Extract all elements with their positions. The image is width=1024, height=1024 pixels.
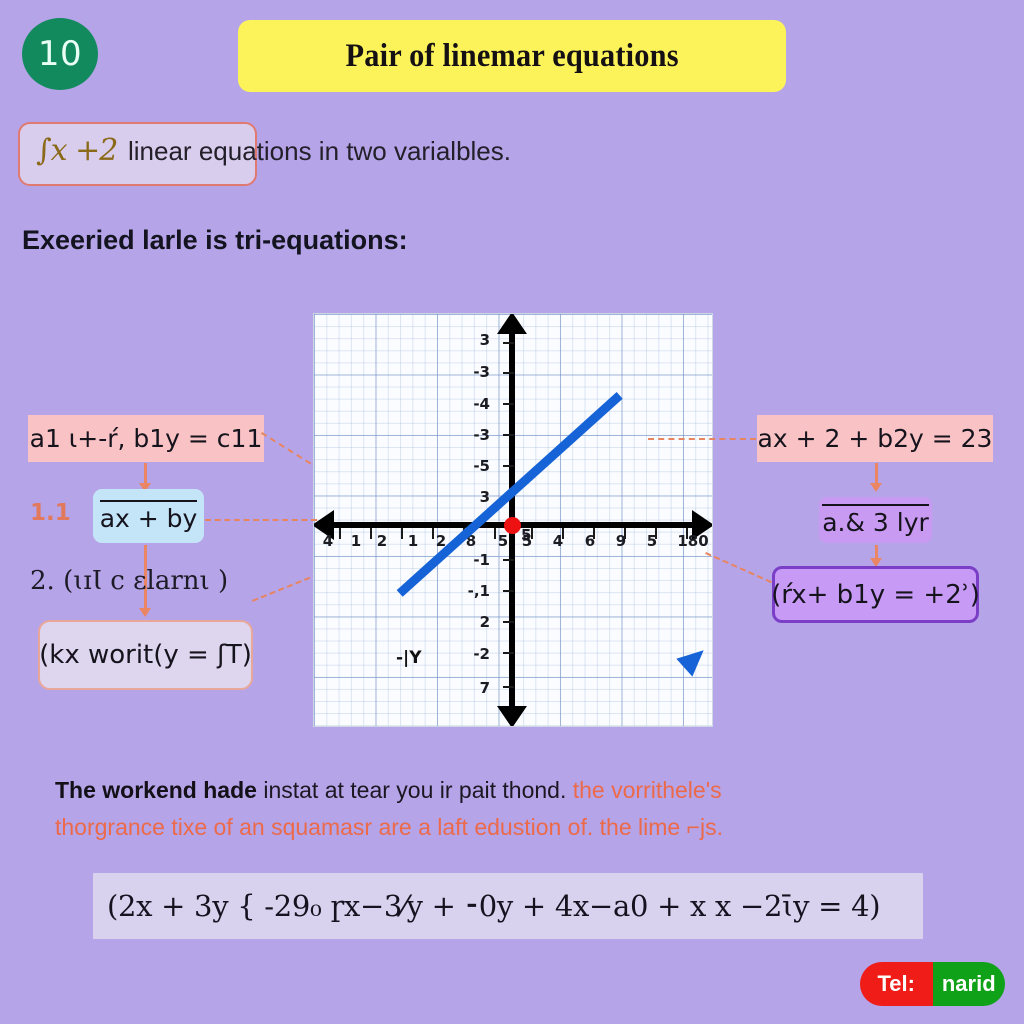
paragraph-bold-lead: The workend hade [55, 777, 257, 803]
paragraph-normal-text: instat at tear you ir pait thond. [257, 777, 573, 803]
y-tick [503, 434, 514, 436]
y-tick-label: -,1 [468, 582, 490, 600]
y-tick-label: 7 [480, 679, 490, 697]
x-tick [432, 528, 434, 539]
x-tick-label: 4 [553, 532, 563, 550]
connector-left-2-arrow-icon [139, 608, 151, 617]
y-tick [503, 590, 514, 592]
y-tick-label: -3 [473, 426, 490, 444]
x-tick-label: 5 [498, 532, 508, 550]
callout-right-equation-1: ax + 2 + b2y = 23 [757, 415, 993, 462]
footer-badge[interactable]: Tel: narid [860, 962, 1005, 1006]
y-tick-label: -3 [473, 363, 490, 381]
y-tick [503, 652, 514, 654]
x-tick [494, 528, 496, 539]
y-origin-label: 5 [521, 526, 531, 544]
callout-right-expression: a.& 3 lyr [819, 497, 932, 543]
dashed-connector-bottomleft [252, 577, 310, 602]
origin-point-marker [504, 517, 521, 534]
x-tick [401, 528, 403, 539]
title-box: Pair of linemar equations [238, 20, 786, 92]
connector-right-1-arrow-icon [870, 483, 882, 492]
step-number-2-text: 2. (ɩɪƖ c ɛlarnι ) [30, 566, 228, 596]
y-axis-up-arrow-icon [497, 313, 527, 334]
body-paragraph: The workend hade instat at tear you ir p… [55, 772, 985, 846]
y-tick [503, 686, 514, 688]
x-tick-label: 6 [585, 532, 595, 550]
dashed-connector-midleft [205, 519, 317, 521]
dashed-connector-topleft [261, 432, 311, 464]
x-tick-label: 5 [647, 532, 657, 550]
slide-root: 10 Pair of linemar equations ∫x +2 linea… [0, 0, 1024, 1024]
y-tick-label: 3 [480, 488, 490, 506]
x-tick-label: 2 [377, 532, 387, 550]
slide-number-badge: 10 [22, 18, 98, 90]
x-tick-label: 180 [677, 532, 708, 550]
x-tick-label: 1 [408, 532, 418, 550]
callout-right-solution: (ŕx+ b1y = +2ʾ) [772, 566, 979, 623]
footer-badge-right-label: narid [933, 962, 1006, 1006]
coordinate-graph: 4 1 2 1 2 8 5 5 4 6 9 5 180 3 -3 -4 -3 -… [313, 313, 713, 727]
callout-left-equation-1: a1 ɩ+-ŕ, b1y = c11 [28, 415, 264, 462]
callout-right-expression-text: a.& 3 lyr [822, 504, 929, 537]
dashed-connector-topright [648, 438, 756, 440]
x-tick-label: 1 [351, 532, 361, 550]
line-annotation-label: -|Y [396, 648, 422, 668]
footer-badge-left-label: Tel: [860, 962, 933, 1006]
y-tick [503, 372, 514, 374]
y-tick [503, 621, 514, 623]
x-tick [339, 528, 341, 539]
y-tick-label: 3 [480, 331, 490, 349]
paragraph-orange-text-2: thorgrance tixe of an squamasr are a laf… [55, 814, 723, 840]
x-tick-label: 4 [323, 532, 333, 550]
y-tick-label: 2 [480, 613, 490, 631]
paragraph-orange-text-1: the vorrithele's [573, 777, 722, 803]
page-title: Pair of linemar equations [345, 38, 678, 75]
y-tick-label: -5 [473, 457, 490, 475]
section-heading: Exeeried larle is tri-equations: [22, 225, 408, 256]
callout-left-solution: (kx worit(y = ʃT) [38, 620, 253, 690]
y-tick [503, 465, 514, 467]
y-tick-label: -4 [473, 395, 490, 413]
y-axis-down-arrow-icon [497, 706, 527, 727]
equation-strip-text: (2x + 3y { -29₀ ɼx−3⁄y + ⁃0y + 4x−a0 + x… [107, 889, 880, 923]
callout-left-expression-text: ax + by [100, 500, 198, 533]
y-tick-label: -1 [473, 551, 490, 569]
equation-strip: (2x + 3y { -29₀ ɼx−3⁄y + ⁃0y + 4x−a0 + x… [93, 873, 923, 939]
step-number-1: 1.1 [30, 500, 71, 526]
dashed-connector-bottomright [705, 552, 772, 583]
y-tick-label: -2 [473, 645, 490, 663]
x-tick-label: 9 [616, 532, 626, 550]
y-tick [503, 559, 514, 561]
y-tick [503, 403, 514, 405]
subtitle-text: linear equations in two varialbles. [128, 136, 511, 167]
subtitle-math-expression: ∫x +2 [36, 133, 117, 168]
x-tick [370, 528, 372, 539]
y-tick [503, 342, 514, 344]
callout-left-expression: ax + by [93, 489, 204, 543]
